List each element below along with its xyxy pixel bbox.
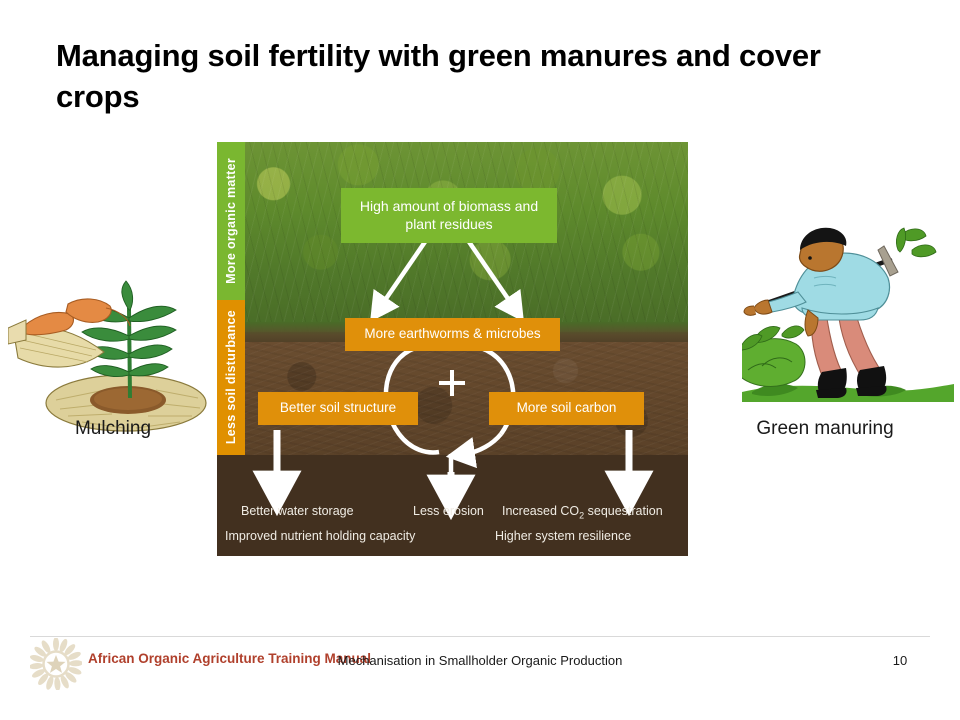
footer-page-number: 10 bbox=[880, 653, 920, 668]
side-label-soil-disturbance-text: Less soil disturbance bbox=[224, 310, 238, 444]
diagram-box-biomass: High amount of biomass and plant residue… bbox=[341, 188, 557, 243]
side-label-soil-disturbance: Less soil disturbance bbox=[217, 300, 245, 455]
green-manuring-illustration bbox=[742, 216, 954, 416]
page-title: Managing soil fertility with green manur… bbox=[56, 36, 876, 118]
footer-center-text: Mechanisation in Smallholder Organic Pro… bbox=[0, 653, 960, 668]
diagram-box-earthworms: More earthworms & microbes bbox=[345, 318, 560, 351]
outcome-nutrient-capacity: Improved nutrient holding capacity bbox=[225, 529, 415, 543]
outcome-water-storage: Better water storage bbox=[241, 504, 354, 518]
outcome-system-resilience: Higher system resilience bbox=[495, 529, 631, 543]
outcome-co2-tail: sequestration bbox=[584, 504, 663, 518]
outcome-co2-base: Increased CO bbox=[502, 504, 579, 518]
green-manuring-caption: Green manuring bbox=[700, 418, 950, 440]
outcome-co2-sequestration: Increased CO2 sequestration bbox=[502, 504, 663, 521]
footer-divider bbox=[30, 636, 930, 637]
soil-fertility-diagram: More organic matter Less soil disturbanc… bbox=[217, 142, 688, 556]
diagram-box-soil-carbon: More soil carbon bbox=[489, 392, 644, 425]
green-manuring-drawing bbox=[742, 216, 954, 416]
side-label-column: More organic matter Less soil disturbanc… bbox=[217, 142, 245, 455]
diagram-box-soil-structure: Better soil structure bbox=[258, 392, 418, 425]
side-label-organic-matter: More organic matter bbox=[217, 142, 245, 300]
side-label-organic-matter-text: More organic matter bbox=[224, 158, 238, 284]
plus-symbol-icon bbox=[439, 370, 465, 396]
mulching-caption: Mulching bbox=[8, 418, 218, 440]
outcome-less-erosion: Less erosion bbox=[413, 504, 484, 518]
